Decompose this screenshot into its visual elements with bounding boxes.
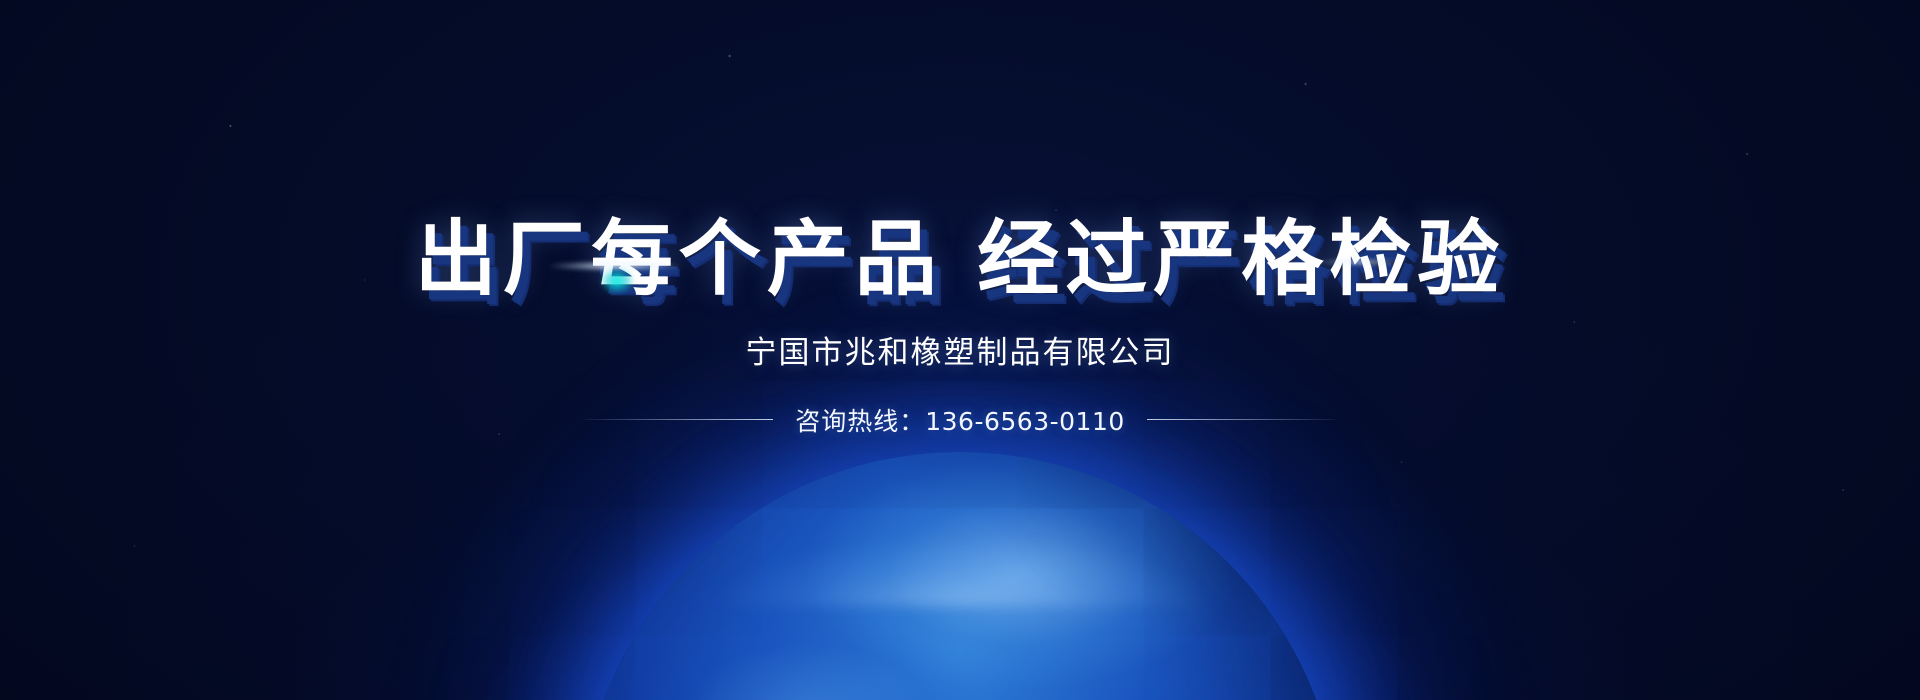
hotline-text: 咨询热线：136-6563-0110 <box>795 402 1125 438</box>
hero-banner: 出厂每个产品 经过严格检验 宁国市兆和橡塑制品有限公司 咨询热线：136-656… <box>0 0 1920 700</box>
planet-graphic <box>580 452 1340 700</box>
hotline-number[interactable]: 136-6563-0110 <box>925 407 1125 436</box>
banner-content: 出厂每个产品 经过严格检验 宁国市兆和橡塑制品有限公司 咨询热线：136-656… <box>0 0 1920 438</box>
hotline-row: 咨询热线：136-6563-0110 <box>0 402 1920 438</box>
banner-headline: 出厂每个产品 经过严格检验 <box>0 216 1920 305</box>
company-name: 宁国市兆和橡塑制品有限公司 <box>0 327 1920 372</box>
hotline-label: 咨询热线： <box>795 407 925 436</box>
planet-top-haze <box>640 446 1280 606</box>
divider-line-right <box>1147 419 1335 420</box>
planet-sphere <box>580 452 1340 700</box>
divider-line-left <box>585 419 773 420</box>
planet-rim-light <box>580 452 1340 700</box>
